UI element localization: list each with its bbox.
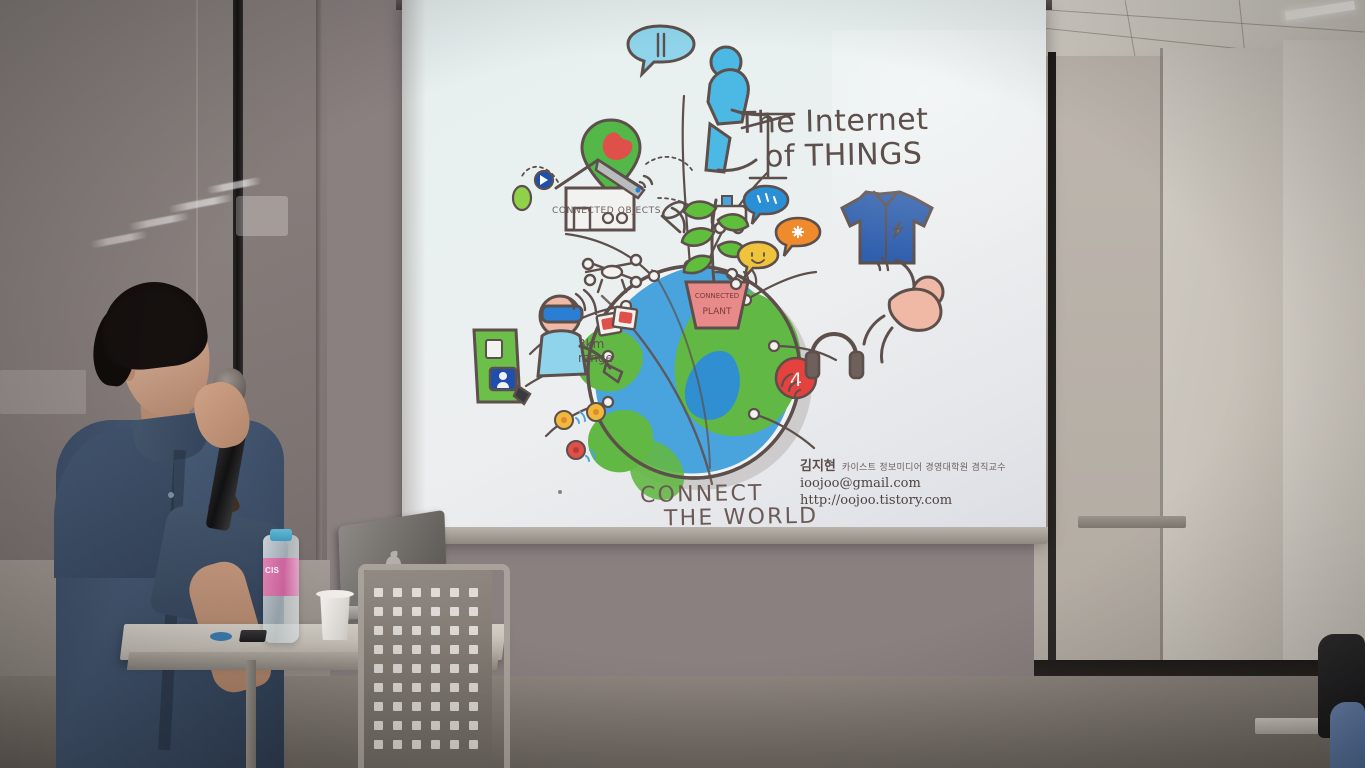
podium-perforation [450, 740, 459, 749]
paper-cup [318, 592, 352, 640]
podium-perforation [431, 626, 440, 635]
podium-perforation [374, 588, 383, 597]
podium-perforation [393, 645, 402, 654]
badge-number: 4 [790, 369, 802, 391]
podium-perforation [374, 626, 383, 635]
podium-perforation [374, 702, 383, 711]
connected-objects-caption: CONNECTED OBJECTS [552, 206, 661, 216]
podium-perforation [450, 721, 459, 730]
presentation-clicker [239, 630, 267, 642]
podium-perforation [431, 702, 440, 711]
podium-perforation [431, 645, 440, 654]
podium-perforation [431, 683, 440, 692]
podium-perforation [469, 626, 478, 635]
podium-perforation [469, 588, 478, 597]
podium-perforation [374, 664, 383, 673]
podium-perforation [431, 588, 440, 597]
podium-perforation [431, 664, 440, 673]
podium-leg [246, 660, 256, 768]
podium-perforation [393, 683, 402, 692]
podium-perforation [450, 702, 459, 711]
presenter-affiliation: 카이스트 정보미디어 경영대학원 겸직교수 [842, 463, 1006, 473]
slide-title-line-1: The Internet [738, 102, 929, 141]
podium-perforation [374, 721, 383, 730]
water-bottle-label-text: CIS [265, 566, 299, 575]
plant-label-1: CONNECTED [695, 292, 739, 300]
podium-perforation [393, 607, 402, 616]
water-bottle-label [263, 558, 299, 596]
whiteboard-tray [1078, 516, 1186, 528]
podium-perforation [412, 664, 421, 673]
podium-perforation [469, 740, 478, 749]
water-bottle-cap [270, 529, 292, 541]
podium-perforation [393, 664, 402, 673]
plant-label-2: PLANT [702, 307, 732, 317]
podium-perforation [374, 607, 383, 616]
podium-perforation [431, 740, 440, 749]
contact-email: ioojoo@gmail.com [800, 476, 1006, 493]
right-wall-return [1283, 40, 1365, 680]
contact-block: 김지현카이스트 정보미디어 경영대학원 겸직교수 ioojoo@gmail.co… [800, 456, 1006, 510]
podium-perforation [412, 626, 421, 635]
podium-perforation [412, 683, 421, 692]
podium-perforation [412, 702, 421, 711]
podium-perforation [431, 721, 440, 730]
podium-perforation [469, 702, 478, 711]
paper-cup-rim [316, 590, 354, 598]
range-label-line1: 3km [578, 337, 604, 351]
podium-perforation [412, 607, 421, 616]
podium-perforation [374, 645, 383, 654]
podium-perforation [374, 740, 383, 749]
podium-perforation [412, 740, 421, 749]
presenter-name: 김지현 [800, 459, 836, 474]
blue-tape-roll [210, 632, 232, 641]
wall-reflection [236, 196, 288, 236]
podium-perforation [450, 645, 459, 654]
presentation-room-photo: 4 [0, 0, 1365, 768]
podium-perforation [469, 721, 478, 730]
podium-perforation [393, 740, 402, 749]
podium-perforation [412, 588, 421, 597]
podium-perforation [469, 683, 478, 692]
podium-perforation [469, 645, 478, 654]
wall-dark-trim [1048, 52, 1056, 680]
podium-perforation [450, 626, 459, 635]
podium-perforation [450, 683, 459, 692]
contact-website: http://oojoo.tistory.com [800, 493, 1006, 510]
podium-perforation [431, 607, 440, 616]
podium-perforation [374, 683, 383, 692]
podium-perforation [469, 664, 478, 673]
seated-attendee [1330, 702, 1365, 768]
podium-perforation [450, 588, 459, 597]
podium-perforation [393, 702, 402, 711]
screen-bottom-bar [396, 527, 1048, 544]
screen-shadow [402, 0, 426, 540]
podium-perforation [450, 607, 459, 616]
podium-perforation [393, 721, 402, 730]
podium-perforation [393, 626, 402, 635]
podium-perforation [412, 645, 421, 654]
podium-perforation [469, 607, 478, 616]
presenter [46, 282, 336, 768]
podium-perforation [412, 721, 421, 730]
wall-corner [1160, 48, 1163, 678]
slide-title-line-2: of THINGS [765, 136, 923, 174]
podium-perforation [450, 664, 459, 673]
podium-perforation [393, 588, 402, 597]
shirt-button [168, 492, 174, 498]
range-label-line2: range [578, 351, 613, 365]
